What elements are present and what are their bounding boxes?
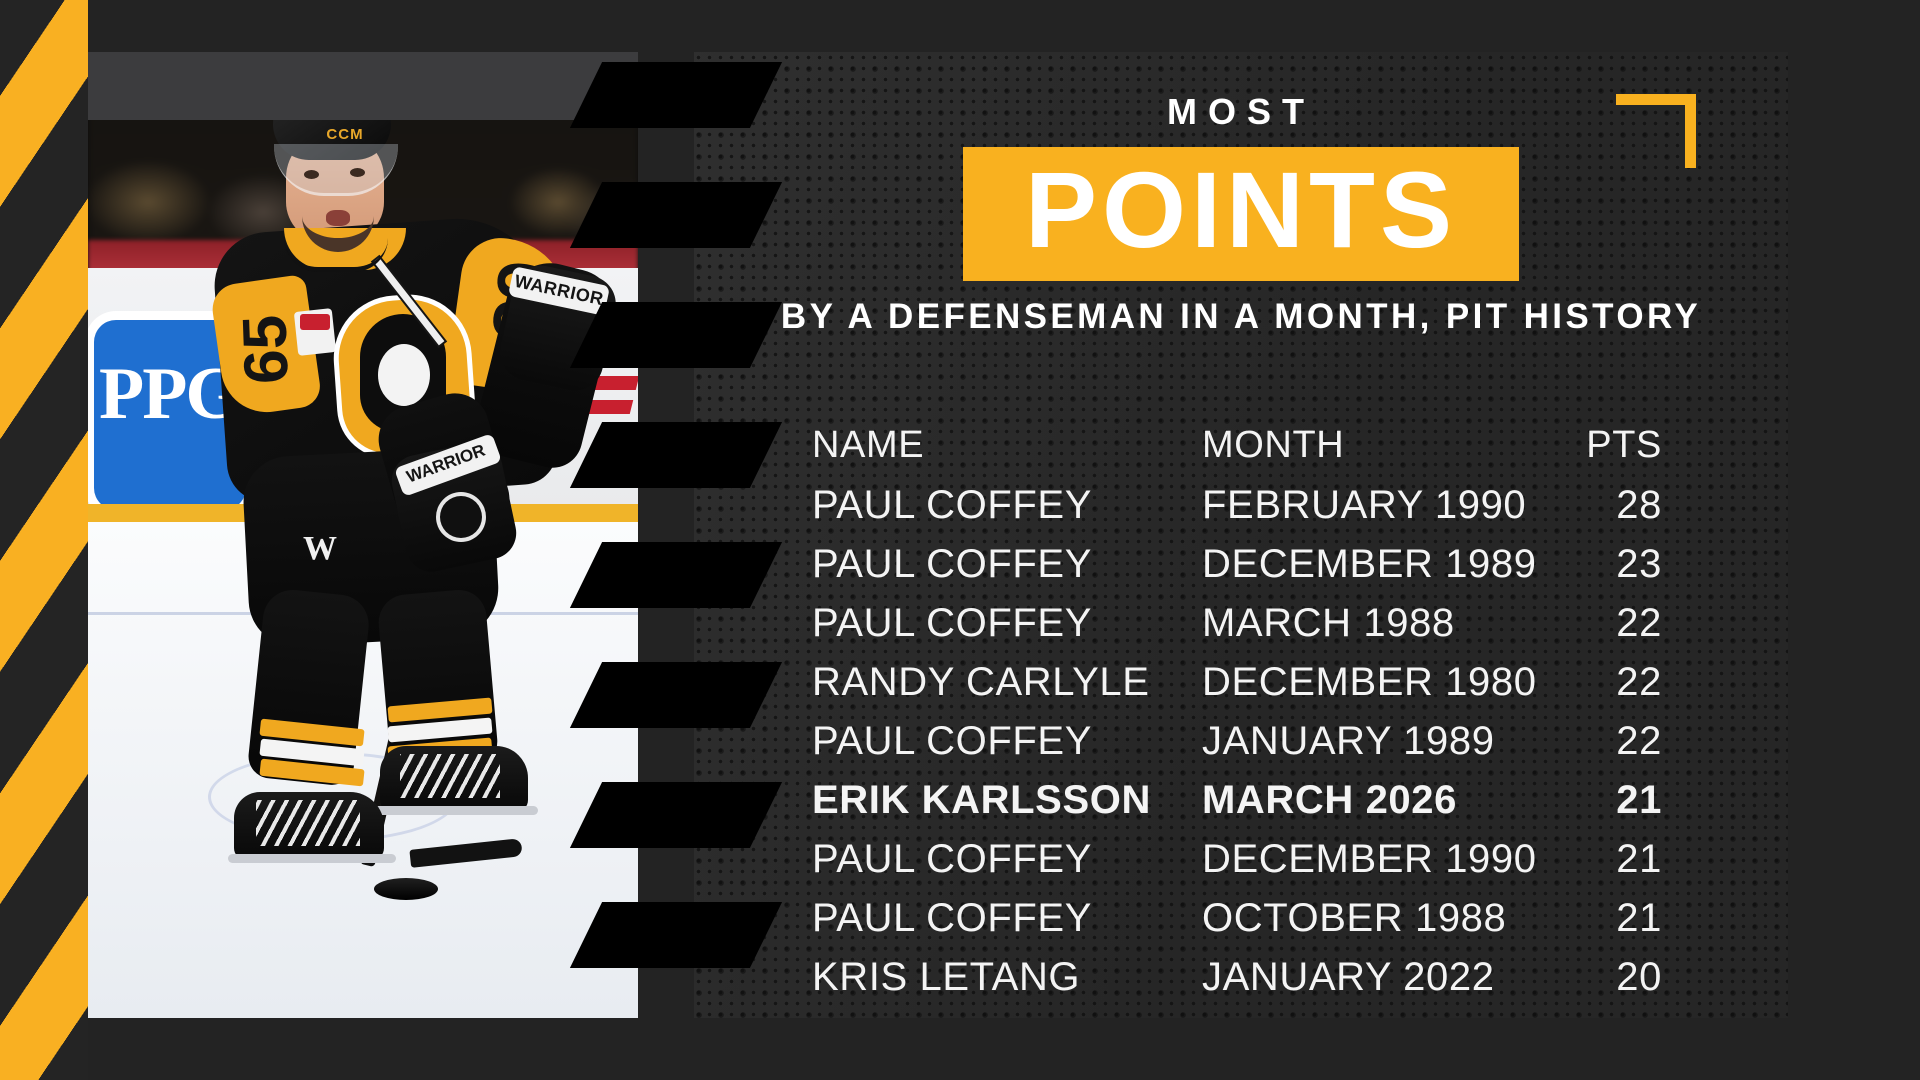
- table-row: PAUL COFFEYOCTOBER 198821: [812, 896, 1696, 955]
- cell-name: KRIS LETANG: [812, 955, 1202, 1000]
- cell-month: DECEMBER 1980: [1202, 660, 1542, 705]
- cell-month: JANUARY 2022: [1202, 955, 1542, 1000]
- table-row: RANDY CARLYLEDECEMBER 198022: [812, 660, 1696, 719]
- background-plate-bottom: [88, 1018, 1920, 1080]
- cell-pts: 22: [1542, 601, 1662, 646]
- leaderboard-table: NAME MONTH PTS PAUL COFFEYFEBRUARY 19902…: [812, 424, 1696, 1014]
- table-row: PAUL COFFEYDECEMBER 198923: [812, 542, 1696, 601]
- player-photo: PPG 65 65 W: [88, 52, 638, 1018]
- player-eye-right: [350, 168, 365, 177]
- column-header-pts: PTS: [1542, 424, 1662, 467]
- skate-laces-right: [400, 754, 500, 798]
- background-plate-top: [88, 0, 1920, 52]
- cell-pts: 22: [1542, 660, 1662, 705]
- cell-name: PAUL COFFEY: [812, 896, 1202, 941]
- cell-pts: 21: [1542, 896, 1662, 941]
- glove-left-logo: [440, 496, 482, 538]
- cell-name: PAUL COFFEY: [812, 601, 1202, 646]
- cell-pts: 20: [1542, 955, 1662, 1000]
- info-panel: MOST POINTS BY A DEFENSEMAN IN A MONTH, …: [694, 52, 1788, 1018]
- table-header-row: NAME MONTH PTS: [812, 424, 1696, 483]
- table-body: PAUL COFFEYFEBRUARY 199028PAUL COFFEYDEC…: [812, 483, 1696, 1014]
- table-row: PAUL COFFEYMARCH 198822: [812, 601, 1696, 660]
- player-figure: 65 65 W: [88, 52, 638, 1018]
- puck: [374, 878, 438, 900]
- cell-name: PAUL COFFEY: [812, 719, 1202, 764]
- subtitle-text: BY A DEFENSEMAN IN A MONTH, PIT HISTORY: [694, 297, 1788, 336]
- player-mouth: [326, 210, 350, 226]
- jersey-sleeve-number-left: 65: [229, 312, 302, 386]
- skate-blade-left: [228, 854, 396, 863]
- cell-name: ERIK KARLSSON: [812, 778, 1202, 823]
- cell-month: OCTOBER 1988: [1202, 896, 1542, 941]
- warrior-w-logo: W: [300, 530, 340, 570]
- table-row: PAUL COFFEYFEBRUARY 199028: [812, 483, 1696, 542]
- cell-name: PAUL COFFEY: [812, 837, 1202, 882]
- skate-laces-left: [256, 800, 360, 846]
- page-title: POINTS: [1025, 155, 1457, 265]
- table-row: PAUL COFFEYJANUARY 198922: [812, 719, 1696, 778]
- photo-top-bar: [88, 52, 638, 120]
- cell-pts: 21: [1542, 837, 1662, 882]
- cell-pts: 23: [1542, 542, 1662, 587]
- penguins-crest-belly: [378, 344, 430, 406]
- cell-pts: 21: [1542, 778, 1662, 823]
- stick-blade: [409, 838, 522, 868]
- table-row: ERIK KARLSSONMARCH 202621: [812, 778, 1696, 837]
- cell-month: FEBRUARY 1990: [1202, 483, 1542, 528]
- cell-pts: 22: [1542, 719, 1662, 764]
- cell-month: JANUARY 1989: [1202, 719, 1542, 764]
- cell-name: RANDY CARLYLE: [812, 660, 1202, 705]
- column-header-month: MONTH: [1202, 424, 1542, 467]
- title-band: POINTS: [963, 147, 1519, 281]
- cell-name: PAUL COFFEY: [812, 542, 1202, 587]
- cell-month: MARCH 2026: [1202, 778, 1542, 823]
- skate-blade-right: [374, 806, 538, 815]
- table-row: KRIS LETANGJANUARY 202220: [812, 955, 1696, 1014]
- cell-pts: 28: [1542, 483, 1662, 528]
- player-eye-left: [304, 170, 319, 179]
- table-row: PAUL COFFEYDECEMBER 199021: [812, 837, 1696, 896]
- corner-bracket-icon: [1616, 94, 1696, 168]
- cell-month: DECEMBER 1989: [1202, 542, 1542, 587]
- cell-name: PAUL COFFEY: [812, 483, 1202, 528]
- cell-month: MARCH 1988: [1202, 601, 1542, 646]
- column-header-name: NAME: [812, 424, 1202, 467]
- cell-month: DECEMBER 1990: [1202, 837, 1542, 882]
- graphic-card: PPG 65 65 W: [88, 52, 1788, 1018]
- jersey-sponsor-patch-inner: [300, 314, 330, 330]
- helmet-brand-label: CCM: [310, 126, 380, 143]
